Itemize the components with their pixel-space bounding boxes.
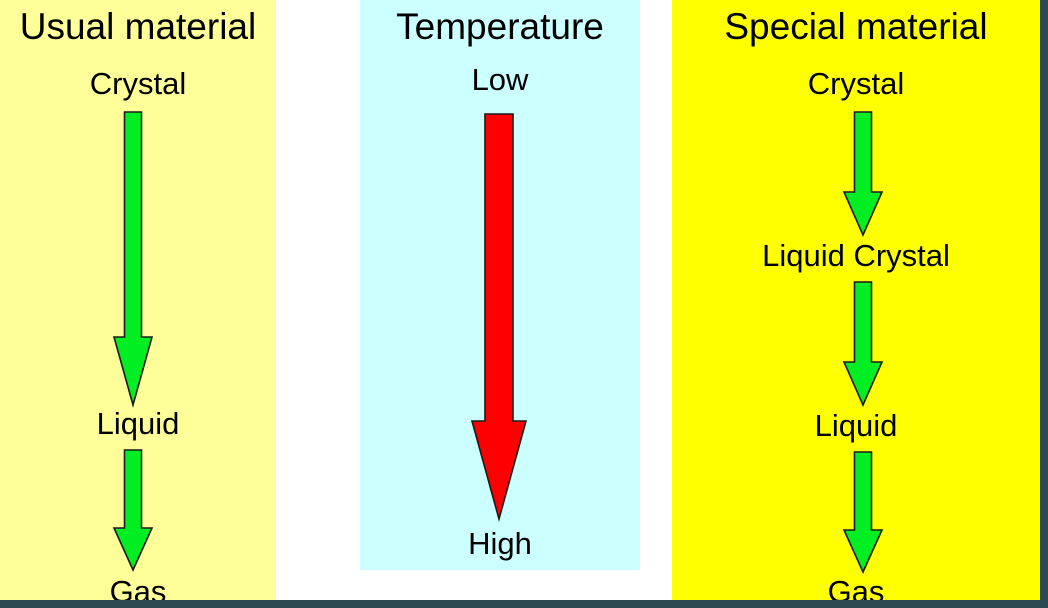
slide-canvas: Usual material Crystal Liquid Gas Temper…: [0, 0, 1048, 608]
slide-bottom-border: [0, 600, 1048, 608]
special-state-liquid-crystal-label: Liquid Crystal: [672, 240, 1040, 271]
panel-temperature-title: Temperature: [360, 8, 640, 45]
special-state-liquid-label: Liquid: [672, 410, 1040, 441]
slide-right-border: [1040, 0, 1048, 608]
arrow-liquid-crystal-to-liquid: [840, 280, 886, 408]
special-state-crystal-label: Crystal: [672, 68, 1040, 99]
arrow-crystal-to-liquid-usual: [110, 110, 156, 408]
arrow-liquid-to-gas-special: [840, 450, 886, 575]
usual-state-crystal-label: Crystal: [0, 68, 276, 99]
temperature-high-label: High: [360, 528, 640, 559]
arrow-liquid-to-gas-usual: [110, 448, 156, 573]
temperature-low-label: Low: [360, 64, 640, 95]
panel-usual-title: Usual material: [0, 8, 276, 45]
arrow-temperature-increase: [468, 112, 530, 522]
arrow-crystal-to-liquid-crystal: [840, 110, 886, 238]
panel-special-title: Special material: [672, 8, 1040, 45]
usual-state-liquid-label: Liquid: [0, 408, 276, 439]
